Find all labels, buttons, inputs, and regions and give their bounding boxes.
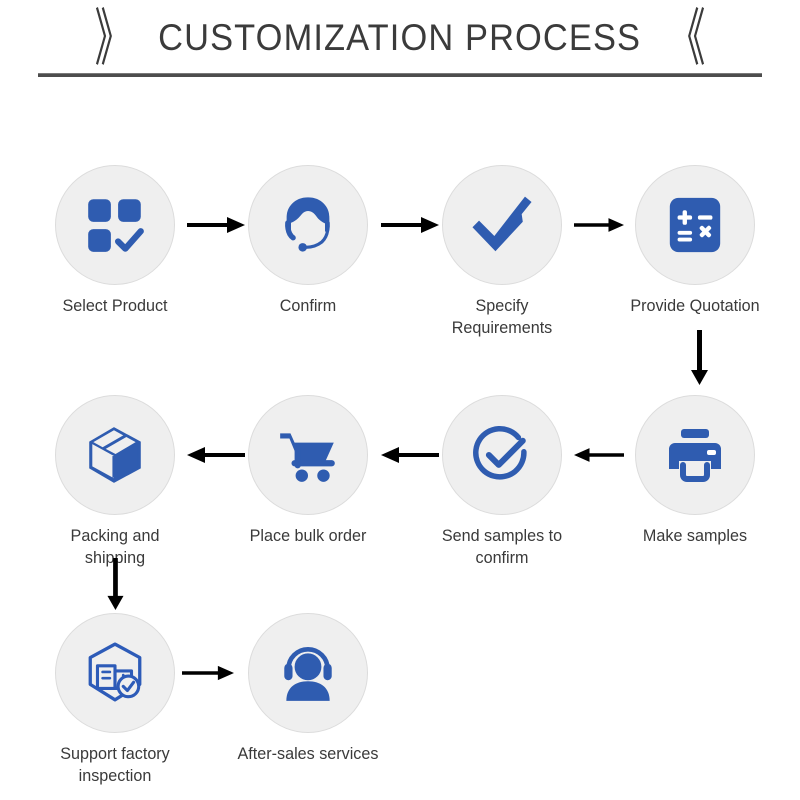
arrow-down-1 [686,330,712,385]
step-label: Make samples [619,525,771,547]
step-icon-circle [248,165,368,285]
step-packing-shipping[interactable]: Packing and shipping [35,395,195,569]
chevron-left-decor-icon: 《 [668,7,705,69]
check-circle-icon [467,420,537,490]
step-place-bulk-order[interactable]: Place bulk order [228,395,388,547]
step-icon-circle [442,395,562,515]
step-make-samples[interactable]: Make samples [615,395,775,547]
step-select-product[interactable]: Select Product [35,165,195,317]
headset-person-icon [275,640,341,706]
arrow-right-4 [182,660,234,686]
calculator-icon [664,194,726,256]
arrow-left-2 [381,442,439,468]
step-label: Confirm [232,295,384,317]
step-icon-circle [55,613,175,733]
page-header: 》 CUSTOMIZATION PROCESS 《 [0,0,800,90]
grid-check-icon [82,192,148,258]
arrow-right-1 [187,212,245,238]
step-icon-circle [635,395,755,515]
step-send-samples[interactable]: Send samples to confirm [422,395,582,569]
page-title: CUSTOMIZATION PROCESS [159,18,642,58]
step-icon-circle [248,613,368,733]
arrow-left-1 [574,442,624,468]
title-row: 》 CUSTOMIZATION PROCESS 《 [0,8,800,68]
package-box-icon [82,422,148,488]
step-icon-circle [442,165,562,285]
arrow-left-3 [187,442,245,468]
printer-icon [663,423,727,487]
step-provide-quotation[interactable]: Provide Quotation [615,165,775,317]
step-icon-circle [248,395,368,515]
factory-inspection-icon [82,640,148,706]
arrow-right-2 [381,212,439,238]
step-after-sales[interactable]: After-sales services [228,613,388,765]
step-icon-circle [55,395,175,515]
step-label: After-sales services [232,743,384,765]
step-label: Select Product [39,295,191,317]
step-icon-circle [635,165,755,285]
shopping-cart-icon [275,422,341,488]
step-label: Place bulk order [232,525,384,547]
chevron-right-decor-icon: 》 [95,7,132,69]
step-support-inspection[interactable]: Support factory inspection [35,613,195,787]
step-label: Support factory inspection [39,743,191,787]
title-divider [38,73,762,77]
checkmark-icon [467,190,537,260]
step-label: Send samples to confirm [426,525,578,569]
step-confirm[interactable]: Confirm [228,165,388,317]
step-icon-circle [55,165,175,285]
arrow-down-2 [102,558,128,610]
step-label: Provide Quotation [619,295,771,317]
support-agent-icon [274,191,342,259]
arrow-right-3 [574,212,624,238]
step-specify-requirements[interactable]: Specify Requirements [422,165,582,339]
step-label: Specify Requirements [426,295,578,339]
